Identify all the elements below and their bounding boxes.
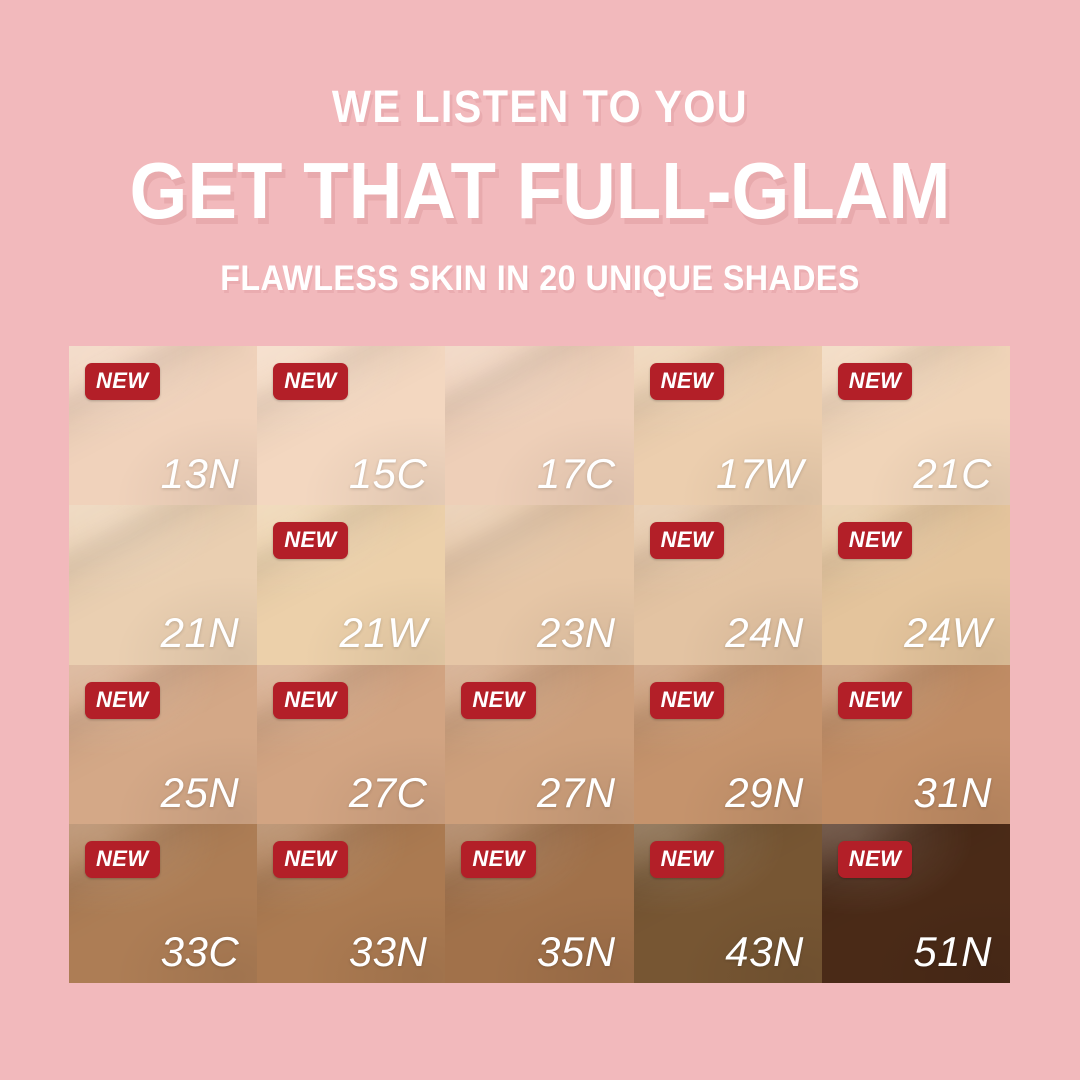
new-badge: NEW [650, 841, 725, 878]
shade-swatch[interactable]: 21N [69, 505, 257, 664]
shade-code-label: 43N [725, 929, 804, 975]
shade-code-label: 24W [904, 610, 992, 656]
new-badge: NEW [650, 363, 725, 400]
promo-eyebrow-text: WE LISTEN TO YOU [43, 84, 1037, 129]
shade-code-label: 21N [161, 610, 240, 656]
shade-range-promo-card: WE LISTEN TO YOU GET THAT FULL-GLAM FLAW… [0, 0, 1080, 1080]
shade-code-label: 15C [349, 451, 428, 497]
promo-header: WE LISTEN TO YOU GET THAT FULL-GLAM FLAW… [0, 0, 1080, 296]
shade-code-label: 27N [537, 770, 616, 816]
new-badge: NEW [85, 841, 160, 878]
shade-swatch[interactable]: NEW21W [257, 505, 445, 664]
shade-swatch[interactable]: NEW27N [445, 665, 633, 824]
new-badge: NEW [85, 363, 160, 400]
shade-code-label: 21C [913, 451, 992, 497]
new-badge: NEW [838, 682, 913, 719]
new-badge: NEW [838, 522, 913, 559]
shade-swatch[interactable]: NEW31N [822, 665, 1010, 824]
shade-swatch[interactable]: NEW13N [69, 346, 257, 505]
shade-code-label: 33N [349, 929, 428, 975]
shade-swatch[interactable]: 17C [445, 346, 633, 505]
shade-swatch-grid: NEW13NNEW15C17CNEW17WNEW21C21NNEW21W23NN… [69, 346, 1010, 983]
shade-code-label: 13N [161, 451, 240, 497]
promo-headline: GET THAT FULL-GLAM [38, 151, 1042, 231]
shade-swatch[interactable]: NEW15C [257, 346, 445, 505]
shade-swatch[interactable]: NEW33N [257, 824, 445, 983]
shade-swatch[interactable]: NEW24N [634, 505, 822, 664]
new-badge: NEW [461, 682, 536, 719]
shade-swatch[interactable]: NEW29N [634, 665, 822, 824]
shade-code-label: 17W [716, 451, 804, 497]
shade-swatch[interactable]: NEW25N [69, 665, 257, 824]
new-badge: NEW [838, 363, 913, 400]
shade-code-label: 29N [725, 770, 804, 816]
shade-code-label: 21W [340, 610, 428, 656]
shade-code-label: 25N [161, 770, 240, 816]
new-badge: NEW [650, 522, 725, 559]
promo-subheadline: FLAWLESS SKIN IN 20 UNIQUE SHADES [43, 261, 1037, 296]
shade-code-label: 33C [161, 929, 240, 975]
shade-swatch[interactable]: NEW27C [257, 665, 445, 824]
shade-swatch[interactable]: NEW17W [634, 346, 822, 505]
new-badge: NEW [650, 682, 725, 719]
shade-code-label: 17C [537, 451, 616, 497]
shade-code-label: 24N [725, 610, 804, 656]
new-badge: NEW [273, 363, 348, 400]
shade-code-label: 35N [537, 929, 616, 975]
new-badge: NEW [838, 841, 913, 878]
shade-code-label: 51N [913, 929, 992, 975]
shade-swatch[interactable]: NEW33C [69, 824, 257, 983]
new-badge: NEW [85, 682, 160, 719]
new-badge: NEW [461, 841, 536, 878]
shade-code-label: 31N [913, 770, 992, 816]
shade-code-label: 23N [537, 610, 616, 656]
new-badge: NEW [273, 841, 348, 878]
shade-swatch[interactable]: 23N [445, 505, 633, 664]
shade-swatch[interactable]: NEW24W [822, 505, 1010, 664]
shade-swatch[interactable]: NEW21C [822, 346, 1010, 505]
shade-swatch[interactable]: NEW51N [822, 824, 1010, 983]
shade-swatch[interactable]: NEW43N [634, 824, 822, 983]
new-badge: NEW [273, 682, 348, 719]
shade-code-label: 27C [349, 770, 428, 816]
new-badge: NEW [273, 522, 348, 559]
shade-swatch[interactable]: NEW35N [445, 824, 633, 983]
